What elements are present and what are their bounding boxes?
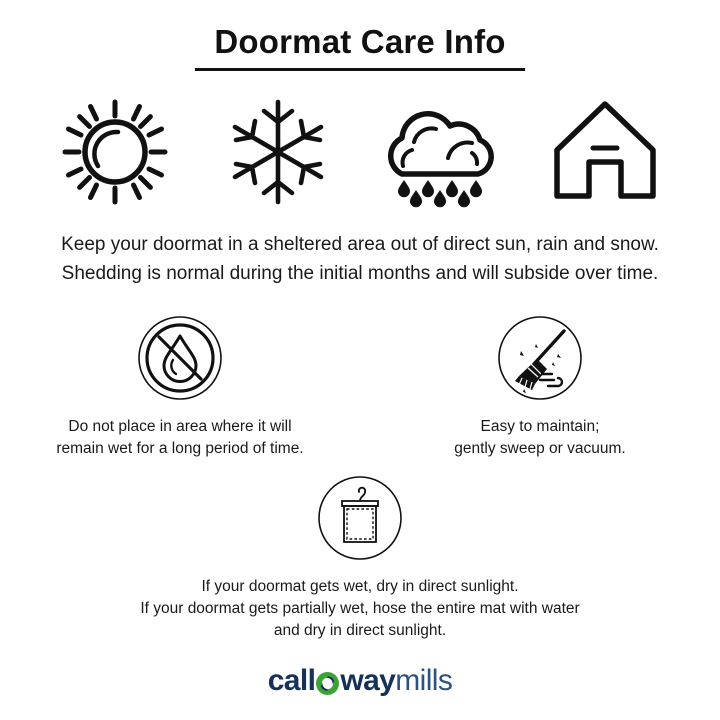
care-tip-sweep: Easy to maintain; gently sweep or vacuum… bbox=[360, 312, 720, 460]
care-tip-no-water-text: Do not place in area where it will remai… bbox=[56, 416, 303, 460]
page-title: Doormat Care Info bbox=[0, 22, 720, 62]
hang-to-dry-icon bbox=[316, 472, 404, 564]
care-tip-no-water-line-2: remain wet for a long period of time. bbox=[56, 438, 303, 460]
rain-cloud-icon bbox=[367, 96, 517, 208]
doormat-care-info-page: Doormat Care Info bbox=[0, 0, 720, 720]
no-water-icon bbox=[136, 312, 224, 404]
green-o-icon bbox=[315, 671, 340, 696]
care-tip-sweep-line-2: gently sweep or vacuum. bbox=[454, 438, 625, 460]
brand-logo: call way mills bbox=[0, 664, 720, 698]
intro-line-2: Shedding is normal during the initial mo… bbox=[0, 259, 720, 288]
intro-line-1: Keep your doormat in a sheltered area ou… bbox=[0, 230, 720, 259]
intro-paragraph: Keep your doormat in a sheltered area ou… bbox=[0, 230, 720, 288]
logo-text-mills: mills bbox=[395, 664, 452, 698]
logo-text-way: way bbox=[340, 664, 395, 698]
logo-text-call: call bbox=[268, 664, 316, 698]
title-underline-rule bbox=[195, 68, 525, 71]
care-tip-sweep-text: Easy to maintain; gently sweep or vacuum… bbox=[454, 416, 625, 460]
dry-line-3: and dry in direct sunlight. bbox=[140, 620, 579, 642]
snowflake-icon bbox=[203, 96, 353, 208]
page-header: Doormat Care Info bbox=[0, 22, 720, 71]
dry-instructions-block: If your doormat gets wet, dry in direct … bbox=[0, 472, 720, 642]
dry-line-1: If your doormat gets wet, dry in direct … bbox=[140, 576, 579, 598]
care-tip-sweep-line-1: Easy to maintain; bbox=[454, 416, 625, 438]
dry-instructions-text: If your doormat gets wet, dry in direct … bbox=[140, 576, 579, 642]
house-icon bbox=[530, 96, 680, 208]
weather-icon-row bbox=[40, 96, 680, 208]
care-tips-row: Do not place in area where it will remai… bbox=[0, 312, 720, 460]
broom-icon bbox=[496, 312, 584, 404]
dry-line-2: If your doormat gets partially wet, hose… bbox=[140, 598, 579, 620]
care-tip-no-water: Do not place in area where it will remai… bbox=[0, 312, 360, 460]
sun-icon bbox=[40, 96, 190, 208]
care-tip-no-water-line-1: Do not place in area where it will bbox=[56, 416, 303, 438]
